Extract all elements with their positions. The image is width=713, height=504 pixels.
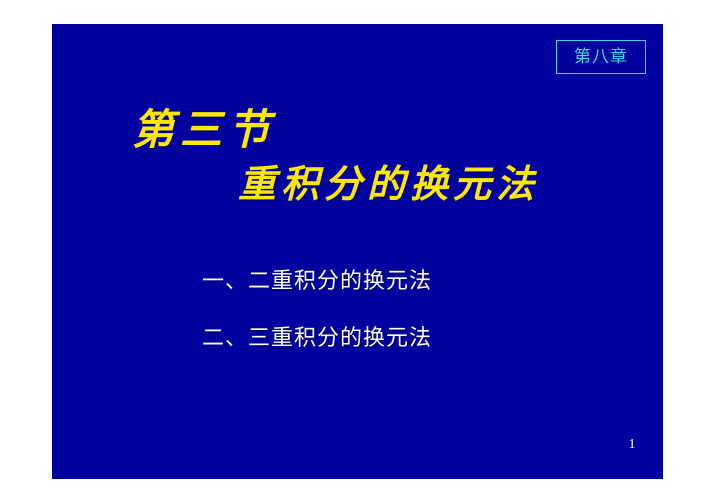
slide-title-line-2: 重积分的换元法 (238, 164, 663, 204)
slide-page-number: 1 (602, 438, 662, 452)
slide-title-line-1: 第三节 (132, 108, 663, 152)
chapter-badge-label: 第八章 (574, 49, 628, 66)
presentation-slide: 第八章 第三节 重积分的换元法 一、二重积分的换元法 二、三重积分的换元法 1 (52, 24, 663, 479)
outline-item-1: 一、二重积分的换元法 (202, 270, 642, 294)
slide-title-block: 第三节 重积分的换元法 (52, 108, 663, 204)
slide-viewer: 第八章 第三节 重积分的换元法 一、二重积分的换元法 二、三重积分的换元法 1 (0, 0, 713, 504)
outline-item-2: 二、三重积分的换元法 (202, 327, 642, 351)
chapter-badge: 第八章 (556, 40, 646, 74)
slide-outline-list: 一、二重积分的换元法 二、三重积分的换元法 (202, 270, 642, 351)
